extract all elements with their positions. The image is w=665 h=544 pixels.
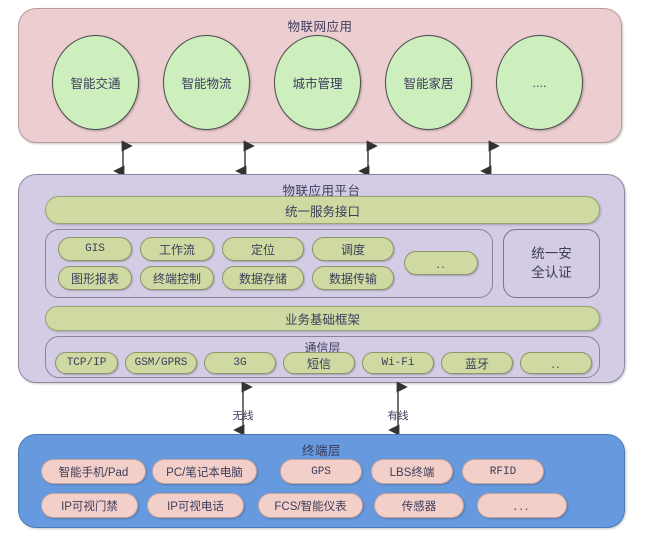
module-terminal-control[interactable]: 终端控制	[140, 266, 214, 290]
terminal-item-label: PC/笔记本电脑	[166, 464, 243, 480]
module-label: 调度	[341, 241, 365, 258]
comm-item-label: 3G	[233, 357, 246, 369]
app-platform-connectors	[0, 140, 665, 178]
app-item-label: 智能物流	[181, 73, 231, 92]
terminal-layer-container: 终端层 智能手机/Pad PC/笔记本电脑 GPS LBS终端 RFID IP可…	[18, 434, 625, 528]
app-item-more[interactable]: ....	[496, 35, 583, 130]
terminal-item-label: IP可视门禁	[61, 498, 118, 514]
terminal-item-fcs-smart-meter[interactable]: FCS/智能仪表	[258, 493, 363, 518]
terminal-item-label: IP可视电话	[167, 498, 224, 514]
app-item-label: 智能家居	[403, 73, 453, 92]
terminal-item-lbs-terminal[interactable]: LBS终端	[371, 459, 453, 484]
terminal-item-label: FCS/智能仪表	[274, 498, 346, 514]
comm-item-label: GSM/GPRS	[135, 357, 188, 369]
module-label: 定位	[251, 241, 275, 258]
terminal-item-pc-laptop[interactable]: PC/笔记本电脑	[152, 459, 257, 484]
business-framework-bar[interactable]: 业务基础框架	[45, 306, 600, 331]
terminal-item-smartphone-pad[interactable]: 智能手机/Pad	[41, 459, 146, 484]
comm-item-gsm-gprs[interactable]: GSM/GPRS	[125, 352, 197, 374]
terminal-item-more[interactable]: ...	[477, 493, 567, 518]
module-label: GIS	[85, 243, 105, 255]
business-framework-label: 业务基础框架	[285, 309, 360, 328]
connector-label-wireless: 无线	[218, 408, 268, 423]
terminal-item-label: GPS	[311, 466, 331, 478]
terminal-item-label: 传感器	[402, 498, 437, 514]
iot-architecture-diagram: 物联网应用 智能交通 智能物流 城市管理 智能家居 ....	[0, 0, 665, 544]
unified-security-auth-box[interactable]: 统一安 全认证	[503, 229, 600, 298]
platform-layer-container: 物联应用平台 统一服务接口 GIS 工作流 定位 调度 图形报表	[18, 174, 625, 383]
app-layer-container: 物联网应用 智能交通 智能物流 城市管理 智能家居 ....	[18, 8, 622, 143]
app-item-label: 城市管理	[292, 73, 342, 92]
unified-service-interface-bar[interactable]: 统一服务接口	[45, 196, 600, 224]
app-item-label: 智能交通	[70, 73, 120, 92]
comm-item-3g[interactable]: 3G	[204, 352, 276, 374]
terminal-item-rfid[interactable]: RFID	[462, 459, 544, 484]
comm-item-label: ..	[551, 356, 560, 371]
comm-item-label: Wi-Fi	[381, 357, 414, 369]
comm-item-sms[interactable]: 短信	[283, 352, 355, 374]
terminal-item-label: 智能手机/Pad	[59, 464, 129, 480]
comm-item-label: 蓝牙	[465, 355, 489, 372]
comm-item-label: TCP/IP	[67, 357, 107, 369]
security-line-2: 全认证	[531, 264, 572, 282]
app-layer-title: 物联网应用	[19, 16, 621, 35]
module-label: ..	[436, 256, 445, 271]
security-line-1: 统一安	[531, 245, 572, 263]
terminal-item-gps[interactable]: GPS	[280, 459, 362, 484]
module-graphical-report[interactable]: 图形报表	[58, 266, 132, 290]
platform-terminal-connectors	[0, 382, 665, 436]
terminal-item-ip-access-control[interactable]: IP可视门禁	[41, 493, 138, 518]
comm-item-label: 短信	[307, 355, 331, 372]
terminal-item-ip-video-phone[interactable]: IP可视电话	[147, 493, 244, 518]
terminal-item-label: LBS终端	[390, 464, 435, 480]
communication-layer-group: 通信层 TCP/IP GSM/GPRS 3G 短信 Wi-Fi 蓝牙 ..	[45, 336, 600, 378]
app-item-city-management[interactable]: 城市管理	[274, 35, 361, 130]
app-item-intelligent-logistics[interactable]: 智能物流	[163, 35, 250, 130]
app-item-label: ....	[533, 76, 547, 90]
terminal-item-label: RFID	[490, 466, 516, 478]
module-workflow[interactable]: 工作流	[140, 237, 214, 261]
module-more[interactable]: ..	[404, 251, 478, 275]
module-data-storage[interactable]: 数据存储	[222, 266, 304, 290]
module-label: 工作流	[159, 241, 195, 258]
app-item-smart-home[interactable]: 智能家居	[385, 35, 472, 130]
comm-item-more[interactable]: ..	[520, 352, 592, 374]
module-label: 图形报表	[71, 270, 119, 287]
comm-item-wifi[interactable]: Wi-Fi	[362, 352, 434, 374]
comm-item-bluetooth[interactable]: 蓝牙	[441, 352, 513, 374]
unified-service-interface-label: 统一服务接口	[285, 201, 360, 220]
terminal-layer-title: 终端层	[19, 440, 624, 459]
comm-item-tcpip[interactable]: TCP/IP	[55, 352, 118, 374]
module-dispatch[interactable]: 调度	[312, 237, 394, 261]
terminal-item-sensor[interactable]: 传感器	[374, 493, 464, 518]
connector-label-wired: 有线	[373, 408, 423, 423]
service-modules-group: GIS 工作流 定位 调度 图形报表 终端控制 数据存储 数据传输	[45, 229, 493, 298]
app-item-intelligent-transport[interactable]: 智能交通	[52, 35, 139, 130]
terminal-item-label: ...	[514, 498, 531, 513]
module-label: 终端控制	[153, 270, 201, 287]
module-label: 数据存储	[239, 270, 287, 287]
module-label: 数据传输	[329, 270, 377, 287]
module-data-transmission[interactable]: 数据传输	[312, 266, 394, 290]
module-gis[interactable]: GIS	[58, 237, 132, 261]
module-positioning[interactable]: 定位	[222, 237, 304, 261]
